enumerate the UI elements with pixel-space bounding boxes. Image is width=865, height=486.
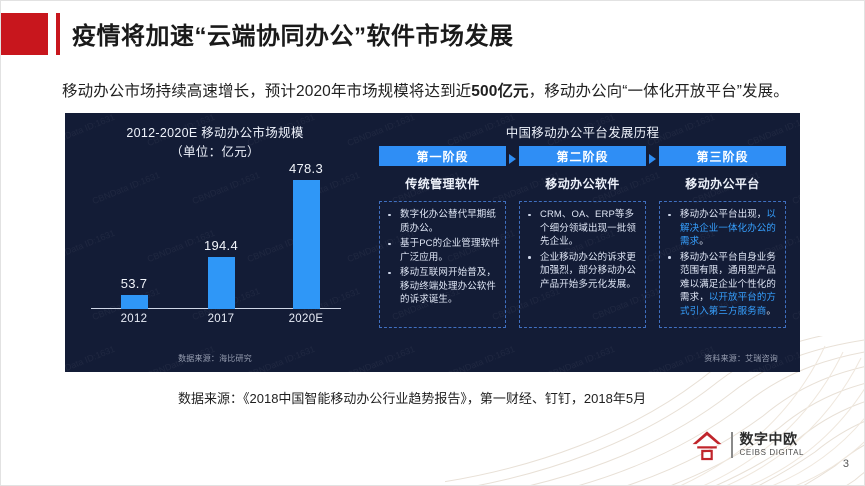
bar-chart: 2012-2020E 移动办公市场规模 （单位：亿元） 53.72012194.…: [65, 113, 365, 372]
chart-title: 2012-2020E 移动办公市场规模: [65, 122, 365, 141]
stage-bullet: 基于PC的企业管理软件广泛应用。: [383, 237, 500, 264]
chart-bar-group: 478.32020E: [271, 161, 341, 309]
stage-detail-box: 数字化办公替代早期纸质办公。基于PC的企业管理软件广泛应用。移动互联网开始普及，…: [379, 201, 506, 328]
chart-bar: [208, 257, 235, 309]
stage-header[interactable]: 第三阶段: [659, 146, 786, 166]
stage-bullet: 数字化办公替代早期纸质办公。: [383, 208, 500, 235]
logo-name-en: CEIBS DIGITAL: [740, 449, 805, 457]
stage-arrow: [646, 146, 659, 328]
page-number: 3: [843, 458, 849, 470]
chart-bar-group: 53.72012: [99, 276, 169, 309]
stage-caption: 传统管理软件: [379, 175, 506, 192]
lead-part-1: 移动办公市场持续高速增长，预计2020年市场规模将达到近: [62, 83, 471, 100]
stage-bullet: 移动办公平台自身业务范围有限，通用型产品难以满足企业个性化的需求，以开放平台的方…: [663, 251, 780, 319]
stage-header[interactable]: 第一阶段: [379, 146, 506, 166]
arrow-right-icon: [649, 154, 656, 164]
timeline-section: 中国移动办公平台发展历程 第一阶段传统管理软件数字化办公替代早期纸质办公。基于P…: [365, 113, 800, 372]
page-title: 疫情将加速“云端协同办公”软件市场发展: [72, 16, 514, 51]
stage-arrow: [506, 146, 519, 328]
stage-detail-box: CRM、OA、ERP等多个细分领域出现一批领先企业。企业移动办公的诉求更加强烈，…: [519, 201, 646, 328]
bullet-text-tail: 。: [699, 236, 709, 247]
stage-bullet-list: 移动办公平台出现，以解决企业一体化办公的需求。移动办公平台自身业务范围有限，通用…: [663, 208, 780, 318]
bullet-text-tail: 。: [766, 306, 776, 317]
timeline-stages: 第一阶段传统管理软件数字化办公替代早期纸质办公。基于PC的企业管理软件广泛应用。…: [379, 146, 786, 328]
stage-header[interactable]: 第二阶段: [519, 146, 646, 166]
logo-name-cn: 数字中欧: [740, 432, 805, 447]
timeline-source-note: 资料来源：艾瑞咨询: [704, 353, 778, 364]
chart-bar-group: 194.42017: [186, 238, 256, 309]
infographic-panel: CBNData ID:1631CBNData ID:1631CBNData ID…: [65, 113, 800, 372]
house-logo-icon: [690, 428, 724, 462]
logo-divider: [731, 432, 733, 458]
slide-canvas: 疫情将加速“云端协同办公”软件市场发展 移动办公市场持续高速增长，预计2020年…: [0, 0, 865, 486]
stage-bullet: 移动互联网开始普及，移动终端处理办公软件的诉求诞生。: [383, 266, 500, 307]
header-accent-block: [0, 13, 48, 55]
chart-subtitle: （单位：亿元）: [65, 141, 365, 160]
chart-category-label: 2020E: [271, 309, 341, 325]
stage-bullet: CRM、OA、ERP等多个细分领域出现一批领先企业。: [523, 208, 640, 249]
stage-bullet-list: 数字化办公替代早期纸质办公。基于PC的企业管理软件广泛应用。移动互联网开始普及，…: [383, 208, 500, 307]
stage-detail-box: 移动办公平台出现，以解决企业一体化办公的需求。移动办公平台自身业务范围有限，通用…: [659, 201, 786, 328]
chart-bar-value: 194.4: [186, 238, 256, 253]
footer-source-note: 数据来源：《2018中国智能移动办公行业趋势报告》，第一财经、钉钉，2018年5…: [178, 388, 646, 407]
arrow-right-icon: [509, 154, 516, 164]
lead-emphasis: 500亿元: [471, 83, 528, 100]
chart-bar: [293, 180, 320, 309]
stage-bullet-list: CRM、OA、ERP等多个细分领域出现一批领先企业。企业移动办公的诉求更加强烈，…: [523, 208, 640, 291]
lead-part-2: ，移动办公向“一体化开放平台”发展。: [529, 83, 789, 100]
bullet-text: 移动办公平台出现，: [680, 209, 766, 220]
brand-logo: 数字中欧 CEIBS DIGITAL: [690, 428, 804, 462]
timeline-title: 中国移动办公平台发展历程: [365, 122, 800, 141]
stage-bullet: 企业移动办公的诉求更加强烈，部分移动办公产品开始多元化发展。: [523, 251, 640, 292]
chart-category-label: 2012: [99, 309, 169, 325]
stage-bullet: 移动办公平台出现，以解决企业一体化办公的需求。: [663, 208, 780, 249]
timeline-stage: 第一阶段传统管理软件数字化办公替代早期纸质办公。基于PC的企业管理软件广泛应用。…: [379, 146, 506, 328]
lead-paragraph: 移动办公市场持续高速增长，预计2020年市场规模将达到近500亿元，移动办公向“…: [62, 79, 789, 101]
timeline-stage: 第三阶段移动办公平台移动办公平台出现，以解决企业一体化办公的需求。移动办公平台自…: [659, 146, 786, 328]
chart-bar-value: 478.3: [271, 161, 341, 176]
chart-source-note: 数据来源：海比研究: [65, 353, 365, 364]
chart-category-label: 2017: [186, 309, 256, 325]
chart-bar-value: 53.7: [99, 276, 169, 291]
chart-plot-area: 53.72012194.42017478.32020E: [91, 165, 341, 333]
logo-text: 数字中欧 CEIBS DIGITAL: [740, 432, 805, 457]
chart-bar: [121, 295, 148, 309]
timeline-stage: 第二阶段移动办公软件CRM、OA、ERP等多个细分领域出现一批领先企业。企业移动…: [519, 146, 646, 328]
stage-caption: 移动办公软件: [519, 175, 646, 192]
stage-caption: 移动办公平台: [659, 175, 786, 192]
header-accent-bar: [56, 13, 60, 55]
